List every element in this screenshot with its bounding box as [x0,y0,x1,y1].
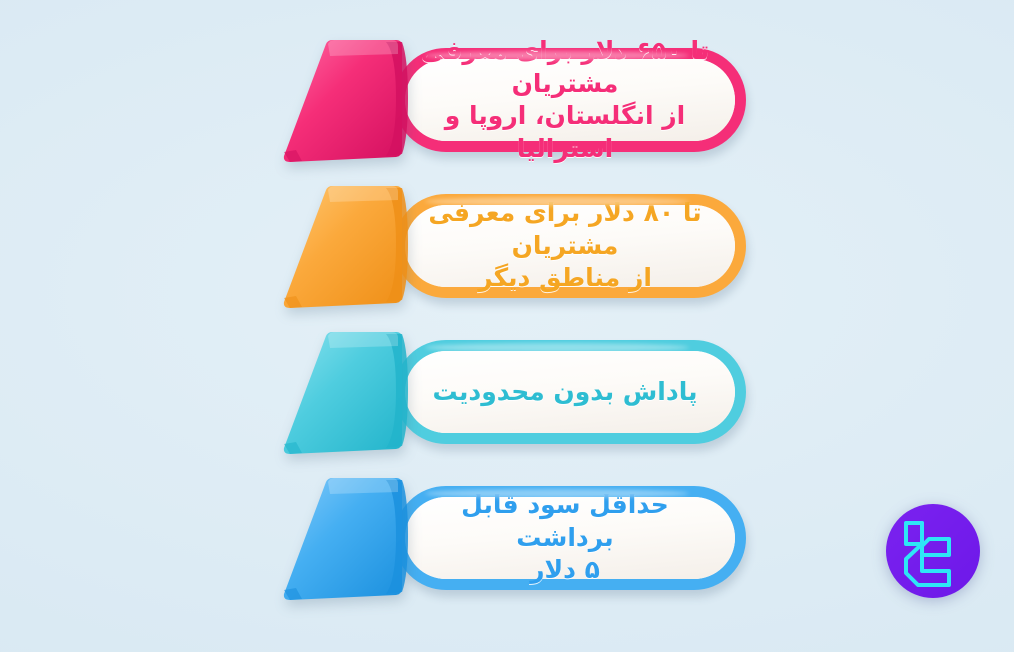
ribbon-flag-3 [268,330,420,458]
banner-row-4[interactable]: حداقل سود قابل برداشت ۵ دلار [0,468,1014,608]
ribbon-flag-1 [268,38,420,166]
banner-text-1: تا ۶۵۰ دلار برای معرفی مشتریان از انگلست… [405,35,735,165]
banner-text-4: حداقل سود قابل برداشت ۵ دلار [405,489,735,587]
poster-canvas: تا ۶۵۰ دلار برای معرفی مشتریان از انگلست… [0,0,1014,652]
banner-row-2[interactable]: تا ۸۰ دلار برای معرفی مشتریان از مناطق د… [0,176,1014,316]
banner-content-2: تا ۸۰ دلار برای معرفی مشتریان از مناطق د… [268,176,748,316]
ribbon-flag-2 [268,184,420,312]
banner-content-3: پاداش بدون محدودیت [268,322,748,462]
banner-text-3: پاداش بدون محدودیت [427,376,714,409]
banner-content-4: حداقل سود قابل برداشت ۵ دلار [268,468,748,608]
banner-capsule-3[interactable]: پاداش بدون محدودیت [394,340,746,444]
banner-capsule-1[interactable]: تا ۶۵۰ دلار برای معرفی مشتریان از انگلست… [394,48,746,152]
banner-capsule-2[interactable]: تا ۸۰ دلار برای معرفی مشتریان از مناطق د… [394,194,746,298]
banner-capsule-4[interactable]: حداقل سود قابل برداشت ۵ دلار [394,486,746,590]
banner-row-3[interactable]: پاداش بدون محدودیت [0,322,1014,462]
lc-monogram-logo[interactable] [885,503,981,599]
ribbon-flag-4 [268,476,420,604]
banner-text-2: تا ۸۰ دلار برای معرفی مشتریان از مناطق د… [405,197,735,295]
banner-content-1: تا ۶۵۰ دلار برای معرفی مشتریان از انگلست… [268,30,748,170]
banner-row-1[interactable]: تا ۶۵۰ دلار برای معرفی مشتریان از انگلست… [0,30,1014,170]
